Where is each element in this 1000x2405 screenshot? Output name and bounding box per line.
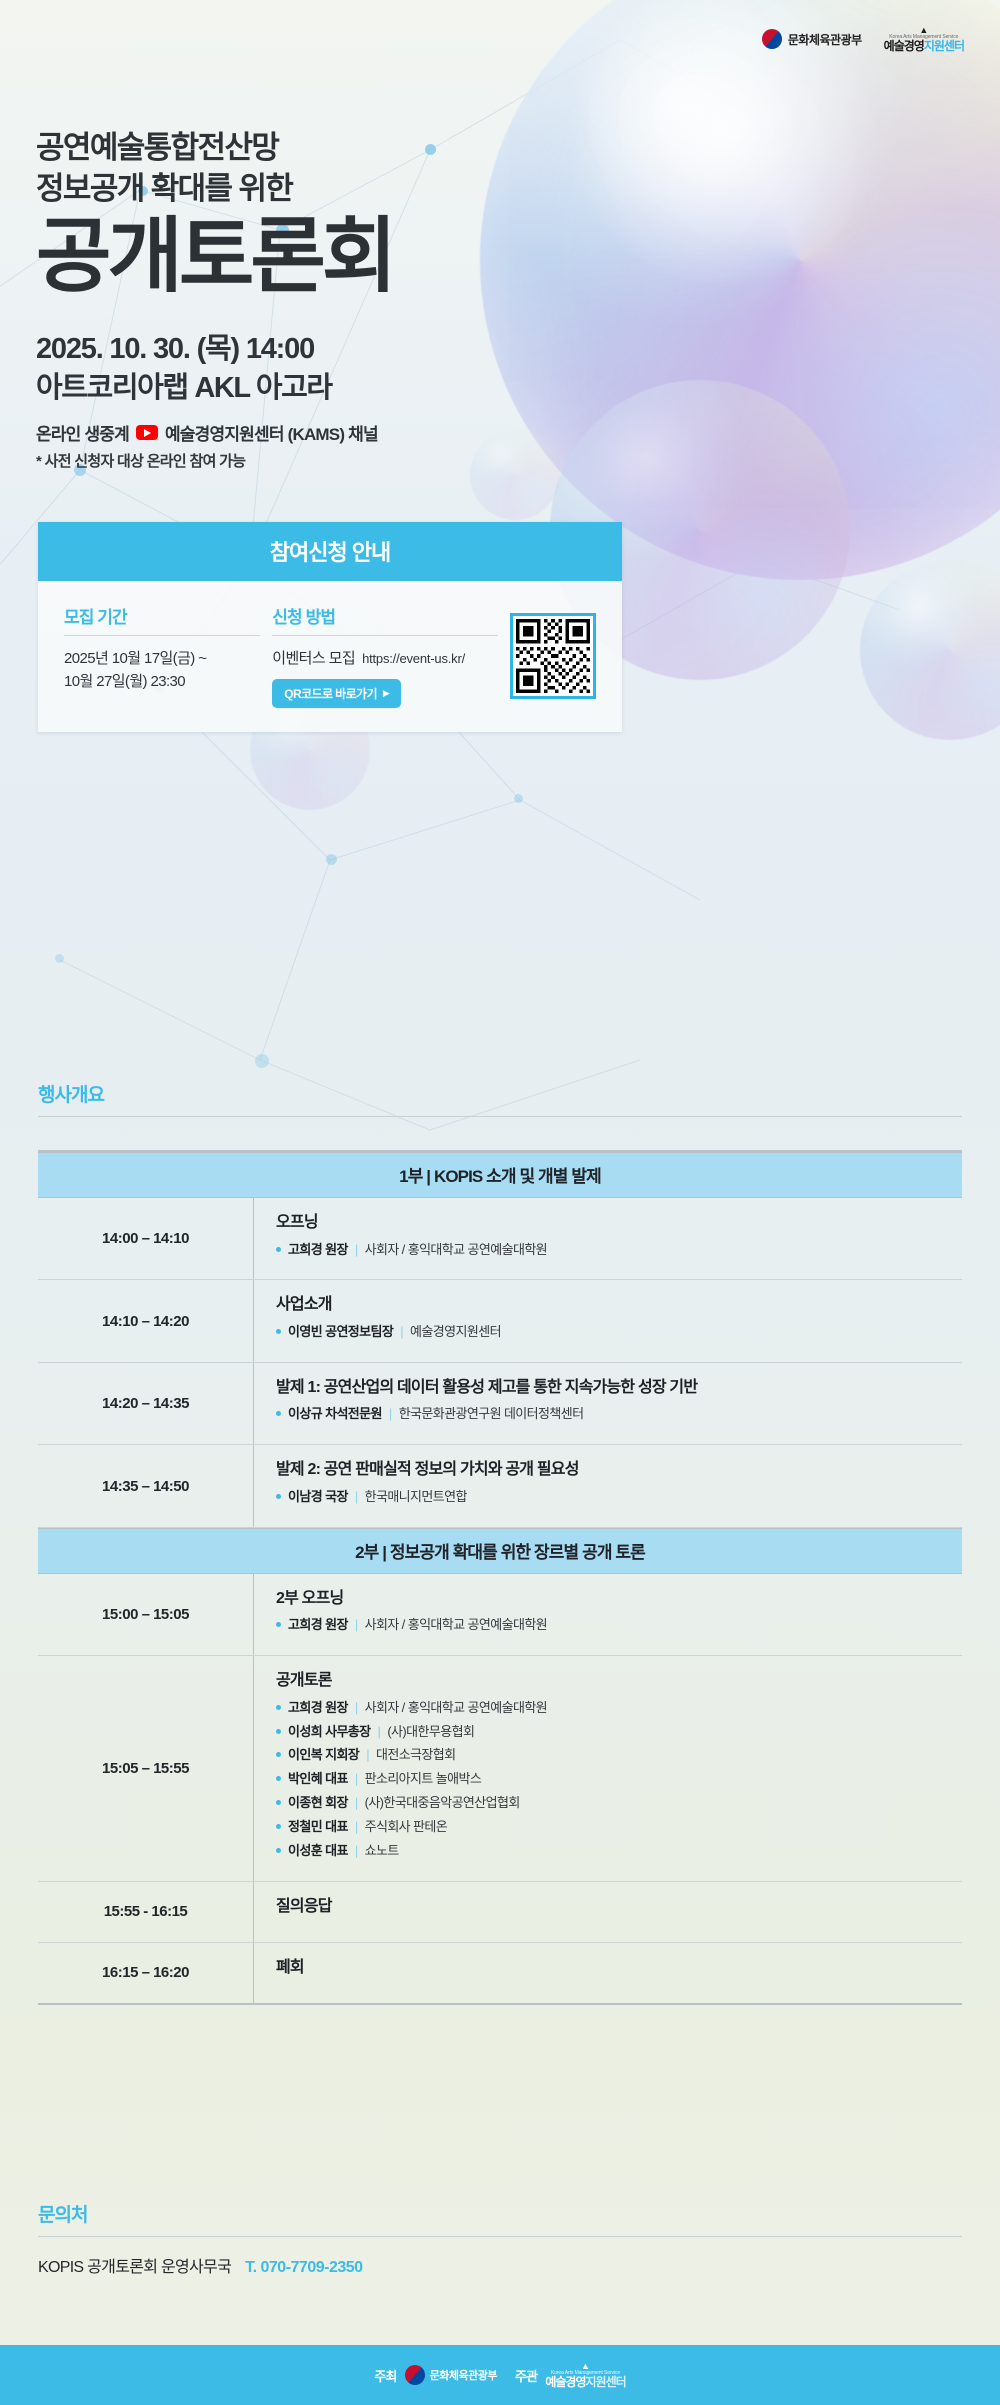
footer-ministry-logo: 문화체육관광부 — [405, 2365, 497, 2385]
registration-method-title: 신청 방법 — [272, 603, 498, 636]
speaker-affiliation: 쇼노트 — [365, 1842, 399, 1861]
speaker-name: 이성훈 대표 — [288, 1842, 348, 1861]
kams-logo: ▲ Korea Arts Management Service 예술경영지원센터 — [884, 26, 964, 52]
registration-period-line-1: 2025년 10월 17일(금) ~ — [64, 647, 260, 670]
contact-section: 문의처 KOPIS 공개토론회 운영사무국 T. 070-7709-2350 — [38, 2200, 962, 2277]
footer-kams-part1: 예술경영 — [545, 2375, 585, 2389]
schedule-time: 15:05 – 15:55 — [38, 1656, 254, 1881]
speaker-item: 이성훈 대표|쇼노트 — [276, 1842, 944, 1861]
schedule-topic: 질의응답 — [276, 1896, 944, 1918]
youtube-icon — [136, 425, 158, 440]
overview-divider — [38, 1116, 962, 1117]
speaker-name: 이상규 차석전문원 — [288, 1405, 382, 1424]
schedule-time: 14:10 – 14:20 — [38, 1280, 254, 1361]
speaker-separator: | — [389, 1405, 392, 1424]
speaker-list: 고희경 원장|사회자 / 홍익대학교 공연예술대학원 — [276, 1241, 944, 1260]
table-row: 16:15 – 16:20폐회 — [38, 1943, 962, 2003]
schedule-body: 폐회 — [254, 1943, 962, 2003]
speaker-list: 이영빈 공연정보팀장|예술경영지원센터 — [276, 1323, 944, 1342]
schedule-topic: 2부 오프닝 — [276, 1588, 944, 1610]
speaker-item: 박인혜 대표|판소리아지트 놀애박스 — [276, 1770, 944, 1789]
footer-bar: 주최 문화체육관광부 주관 ▲ Korea Arts Management Se… — [0, 2345, 1000, 2405]
speaker-separator: | — [355, 1699, 358, 1718]
bullet-icon — [276, 1776, 281, 1781]
speaker-name: 고희경 원장 — [288, 1616, 348, 1635]
node-dot — [514, 794, 523, 803]
speaker-affiliation: 예술경영지원센터 — [410, 1323, 501, 1342]
speaker-item: 이종현 회장|(사)한국대중음악공연산업협회 — [276, 1794, 944, 1813]
schedule-topic: 발제 2: 공연 판매실적 정보의 가치와 공개 필요성 — [276, 1459, 944, 1481]
registration-card: 참여신청 안내 모집 기간 2025년 10월 17일(금) ~ 10월 27일… — [38, 522, 622, 732]
schedule-table: 1부 | KOPIS 소개 및 개별 발제14:00 – 14:10오프닝고희경… — [38, 1150, 962, 2005]
bubble-graphic — [480, 0, 1000, 580]
kams-korean-name: 예술경영지원센터 — [884, 40, 964, 52]
bullet-icon — [276, 1824, 281, 1829]
speaker-item: 고희경 원장|사회자 / 홍익대학교 공연예술대학원 — [276, 1241, 944, 1260]
footer-kams-korean: 예술경영지원센터 — [545, 2376, 625, 2388]
speaker-affiliation: 판소리아지트 놀애박스 — [365, 1770, 482, 1789]
footer-host-group: 주최 문화체육관광부 — [374, 2365, 497, 2385]
registration-method-label: 이벤터스 모집 — [272, 647, 355, 670]
bullet-icon — [276, 1494, 281, 1499]
speaker-item: 정철민 대표|주식회사 판테온 — [276, 1818, 944, 1837]
registration-method-column: 신청 방법 이벤터스 모집 https://event-us.kr/ QR코드로… — [272, 603, 498, 708]
schedule-topic: 사업소개 — [276, 1294, 944, 1316]
table-row: 14:20 – 14:35발제 1: 공연산업의 데이터 활용성 제고를 통한 … — [38, 1363, 962, 1445]
schedule-part-header: 1부 | KOPIS 소개 및 개별 발제 — [38, 1152, 962, 1198]
speaker-affiliation: 사회자 / 홍익대학교 공연예술대학원 — [365, 1699, 547, 1718]
qr-code-image[interactable] — [510, 613, 596, 699]
speaker-item: 이성희 사무총장|(사)대한무용협회 — [276, 1723, 944, 1742]
node-dot — [425, 144, 436, 155]
schedule-body: 사업소개이영빈 공연정보팀장|예술경영지원센터 — [254, 1280, 962, 1361]
contact-office: KOPIS 공개토론회 운영사무국 — [38, 2253, 231, 2277]
speaker-affiliation: 한국문화관광연구원 데이터정책센터 — [399, 1405, 584, 1424]
footer-kams-logo: ▲ Korea Arts Management Service 예술경영지원센터 — [545, 2362, 625, 2388]
table-row: 15:05 – 15:55공개토론고희경 원장|사회자 / 홍익대학교 공연예술… — [38, 1656, 962, 1882]
livestream-channel: 예술경영지원센터 (KAMS) 채널 — [165, 420, 378, 445]
event-datetime: 2025. 10. 30. (목) 14:00 — [36, 330, 378, 369]
schedule-topic: 발제 1: 공연산업의 데이터 활용성 제고를 통한 지속가능한 성장 기반 — [276, 1377, 944, 1399]
speaker-item: 고희경 원장|사회자 / 홍익대학교 공연예술대학원 — [276, 1616, 944, 1635]
speaker-item: 이상규 차석전문원|한국문화관광연구원 데이터정책센터 — [276, 1405, 944, 1424]
speaker-item: 고희경 원장|사회자 / 홍익대학교 공연예술대학원 — [276, 1699, 944, 1718]
speaker-list: 이상규 차석전문원|한국문화관광연구원 데이터정책센터 — [276, 1405, 944, 1424]
bullet-icon — [276, 1800, 281, 1805]
speaker-item: 이남경 국장|한국매니지먼트연합 — [276, 1488, 944, 1507]
schedule-topic: 공개토론 — [276, 1670, 944, 1692]
taegeuk-icon — [762, 29, 782, 49]
contact-line: KOPIS 공개토론회 운영사무국 T. 070-7709-2350 — [38, 2253, 962, 2277]
speaker-affiliation: (사)대한무용협회 — [387, 1723, 474, 1742]
overview-label-text: 행사개요 — [38, 1080, 962, 1116]
schedule-part-header: 2부 | 정보공개 확대를 위한 장르별 공개 토론 — [38, 1528, 962, 1574]
registration-url[interactable]: https://event-us.kr/ — [362, 651, 465, 666]
contact-phone[interactable]: T. 070-7709-2350 — [245, 2259, 362, 2277]
qr-shortcut-button[interactable]: QR코드로 바로가기▶ — [272, 679, 401, 708]
speaker-name: 박인혜 대표 — [288, 1770, 348, 1789]
footer-kams-part2: 지원센터 — [586, 2375, 626, 2389]
participation-note: * 사전 신청자 대상 온라인 참여 가능 — [36, 450, 378, 471]
bullet-icon — [276, 1705, 281, 1710]
bullet-icon — [276, 1329, 281, 1334]
footer-ministry-name: 문화체육관광부 — [430, 2367, 497, 2383]
schedule-time: 14:00 – 14:10 — [38, 1198, 254, 1279]
speaker-name: 고희경 원장 — [288, 1241, 348, 1260]
speaker-affiliation: (사)한국대중음악공연산업협회 — [365, 1794, 520, 1813]
livestream-line: 온라인 생중계 예술경영지원센터 (KAMS) 채널 — [36, 420, 378, 445]
speaker-affiliation: 사회자 / 홍익대학교 공연예술대학원 — [365, 1241, 547, 1260]
overview-section-label: 행사개요 — [38, 1080, 962, 1117]
schedule-time: 16:15 – 16:20 — [38, 1943, 254, 2003]
speaker-separator: | — [355, 1616, 358, 1635]
schedule-body: 오프닝고희경 원장|사회자 / 홍익대학교 공연예술대학원 — [254, 1198, 962, 1279]
speaker-name: 이성희 사무총장 — [288, 1723, 371, 1742]
registration-method-line: 이벤터스 모집 https://event-us.kr/ — [272, 647, 498, 670]
speaker-separator: | — [355, 1842, 358, 1861]
speaker-name: 이남경 국장 — [288, 1488, 348, 1507]
bullet-icon — [276, 1729, 281, 1734]
node-dot — [55, 954, 64, 963]
registration-period-title: 모집 기간 — [64, 603, 260, 636]
schedule-time: 14:35 – 14:50 — [38, 1445, 254, 1526]
speaker-affiliation: 사회자 / 홍익대학교 공연예술대학원 — [365, 1616, 547, 1635]
speaker-name: 이종현 회장 — [288, 1794, 348, 1813]
node-dot — [326, 854, 337, 865]
registration-card-body: 모집 기간 2025년 10월 17일(금) ~ 10월 27일(월) 23:3… — [38, 581, 622, 732]
footer-organizer-role: 주관 — [515, 2366, 537, 2385]
schedule-body: 발제 1: 공연산업의 데이터 활용성 제고를 통한 지속가능한 성장 기반이상… — [254, 1363, 962, 1444]
taegeuk-icon — [405, 2365, 425, 2385]
speaker-item: 이인복 지회장|대전소극장협회 — [276, 1746, 944, 1765]
page-title: 공개토론회 — [36, 214, 393, 299]
contact-label: 문의처 — [38, 2200, 962, 2236]
speaker-separator: | — [366, 1746, 369, 1765]
schedule-body: 질의응답 — [254, 1882, 962, 1942]
bullet-icon — [276, 1752, 281, 1757]
schedule-time: 15:00 – 15:05 — [38, 1574, 254, 1655]
speaker-separator: | — [355, 1818, 358, 1837]
speaker-name: 정철민 대표 — [288, 1818, 348, 1837]
ministry-name: 문화체육관광부 — [788, 31, 862, 48]
table-row: 15:00 – 15:052부 오프닝고희경 원장|사회자 / 홍익대학교 공연… — [38, 1574, 962, 1656]
top-logo-bar: 문화체육관광부 ▲ Korea Arts Management Service … — [762, 26, 964, 52]
speaker-affiliation: 대전소극장협회 — [376, 1746, 456, 1765]
speaker-list: 고희경 원장|사회자 / 홍익대학교 공연예술대학원이성희 사무총장|(사)대한… — [276, 1699, 944, 1861]
footer-organizer-group: 주관 ▲ Korea Arts Management Service 예술경영지… — [515, 2362, 626, 2388]
event-venue: 아트코리아랩 AKL 아고라 — [36, 369, 378, 408]
headline-block: 공연예술통합전산망 정보공개 확대를 위한 공개토론회 — [36, 128, 393, 299]
schedule-topic: 오프닝 — [276, 1212, 944, 1234]
footer-host-role: 주최 — [374, 2366, 396, 2385]
kams-name-part1: 예술경영 — [884, 39, 924, 53]
bubble-graphic — [860, 560, 1000, 740]
node-dot — [255, 1054, 269, 1068]
speaker-list: 이남경 국장|한국매니지먼트연합 — [276, 1488, 944, 1507]
schedule-topic: 폐회 — [276, 1957, 944, 1979]
table-row: 15:55 - 16:15질의응답 — [38, 1882, 962, 1943]
bullet-icon — [276, 1247, 281, 1252]
schedule-time: 14:20 – 14:35 — [38, 1363, 254, 1444]
speaker-name: 고희경 원장 — [288, 1699, 348, 1718]
table-row: 14:00 – 14:10오프닝고희경 원장|사회자 / 홍익대학교 공연예술대… — [38, 1198, 962, 1280]
speaker-separator: | — [355, 1770, 358, 1789]
registration-card-header: 참여신청 안내 — [38, 522, 622, 581]
speaker-separator: | — [378, 1723, 381, 1742]
subtitle-line-1: 공연예술통합전산망 — [36, 128, 393, 169]
speaker-separator: | — [355, 1241, 358, 1260]
speaker-separator: | — [400, 1323, 403, 1342]
schedule-time: 15:55 - 16:15 — [38, 1882, 254, 1942]
play-triangle-icon: ▶ — [383, 689, 389, 698]
speaker-list: 고희경 원장|사회자 / 홍익대학교 공연예술대학원 — [276, 1616, 944, 1635]
speaker-separator: | — [355, 1794, 358, 1813]
bubble-graphic — [470, 430, 560, 520]
speaker-separator: | — [355, 1488, 358, 1507]
qr-code-graphic — [516, 619, 590, 693]
registration-period-column: 모집 기간 2025년 10월 17일(금) ~ 10월 27일(월) 23:3… — [64, 603, 260, 708]
speaker-item: 이영빈 공연정보팀장|예술경영지원센터 — [276, 1323, 944, 1342]
schedule-body: 발제 2: 공연 판매실적 정보의 가치와 공개 필요성이남경 국장|한국매니지… — [254, 1445, 962, 1526]
contact-divider — [38, 2236, 962, 2237]
subtitle-line-2: 정보공개 확대를 위한 — [36, 169, 393, 210]
qr-shortcut-button-label: QR코드로 바로가기 — [284, 685, 377, 702]
schedule-body: 공개토론고희경 원장|사회자 / 홍익대학교 공연예술대학원이성희 사무총장|(… — [254, 1656, 962, 1881]
speaker-affiliation: 주식회사 판테온 — [365, 1818, 448, 1837]
kams-name-part2: 지원센터 — [924, 39, 964, 53]
speaker-affiliation: 한국매니지먼트연합 — [365, 1488, 467, 1507]
registration-period-line-2: 10월 27일(월) 23:30 — [64, 670, 260, 693]
ministry-logo: 문화체육관광부 — [762, 29, 862, 49]
poster-root: 문화체육관광부 ▲ Korea Arts Management Service … — [0, 0, 1000, 2405]
schedule-body: 2부 오프닝고희경 원장|사회자 / 홍익대학교 공연예술대학원 — [254, 1574, 962, 1655]
bullet-icon — [276, 1622, 281, 1627]
bullet-icon — [276, 1848, 281, 1853]
event-details-block: 2025. 10. 30. (목) 14:00 아트코리아랩 AKL 아고라 온… — [36, 330, 378, 471]
speaker-name: 이인복 지회장 — [288, 1746, 359, 1765]
table-row: 14:10 – 14:20사업소개이영빈 공연정보팀장|예술경영지원센터 — [38, 1280, 962, 1362]
livestream-label: 온라인 생중계 — [36, 420, 129, 445]
bullet-icon — [276, 1411, 281, 1416]
table-row: 14:35 – 14:50발제 2: 공연 판매실적 정보의 가치와 공개 필요… — [38, 1445, 962, 1527]
speaker-name: 이영빈 공연정보팀장 — [288, 1323, 393, 1342]
